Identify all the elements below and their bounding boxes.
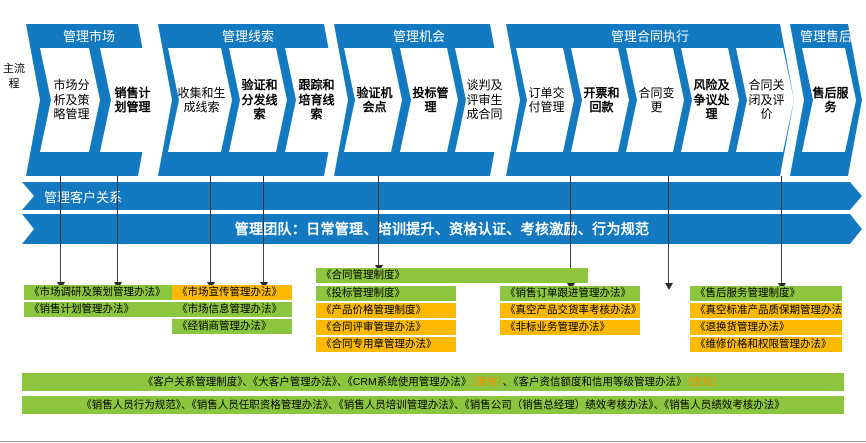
policy-bar-segment-team-docs-1: 《销售人员行为规范》、《销售人员任职资格管理办法》、《销售人员培训管理办法》、《… — [81, 399, 785, 411]
connector-line-4 — [263, 246, 264, 282]
policy-doc-bidding-1[interactable]: 《投标管理制度》 — [316, 286, 456, 301]
policy-bar-segment-crm-docs-1: 《客户关系管理制度》、《大客户管理办法》、《CRM系统使用管理办法》 — [143, 376, 471, 388]
policy-doc-market-research-2[interactable]: 《销售计划管理办法》 — [24, 302, 172, 317]
process-architecture-diagram: 主流程 管理市场市场分析及策略管理销售计划管理管理线索收集和生成线索验证和分发线… — [0, 0, 866, 443]
process-band-title-contract: 管理合同执行 — [506, 28, 794, 46]
policy-bar-team-docs[interactable]: 《销售人员行为规范》、《销售人员任职资格管理办法》、《销售人员培训管理办法》、《… — [22, 396, 844, 414]
policy-bar-segment-crm-docs-4: （优化） — [686, 376, 723, 388]
manage-team-band[interactable]: 管理团队：日常管理、培训提升、资格认证、考核激励、行为规范 — [22, 214, 862, 244]
guide-line-1 — [60, 176, 61, 246]
policy-bar-segment-crm-docs-2: （原有） — [471, 376, 503, 388]
guide-line-7 — [668, 176, 669, 246]
connector-line-1 — [60, 246, 61, 282]
guide-line-2 — [117, 176, 118, 246]
process-band-title-market: 管理市场 — [26, 28, 152, 46]
connector-line-5 — [378, 246, 379, 265]
policy-doc-market-promotion-1[interactable]: 《市场宣传管理办法》 — [172, 285, 292, 300]
policy-doc-contract-system-1[interactable]: 《合同管理制度》 — [316, 268, 588, 283]
guide-line-3 — [210, 176, 211, 246]
policy-doc-market-promotion-3[interactable]: 《经销商管理办法》 — [172, 319, 292, 334]
policy-doc-bidding-2[interactable]: 《产品价格管理制度》 — [316, 303, 456, 318]
policy-doc-sales-order-1[interactable]: 《销售订单跟进管理办法》 — [500, 286, 640, 301]
connector-arrowhead-7 — [665, 283, 673, 290]
crm-band-label: 管理客户关系 — [44, 187, 122, 206]
process-band-title-aftersales: 管理售后 — [790, 28, 862, 46]
guide-line-4 — [263, 176, 264, 246]
process-band-title-opportunity: 管理机会 — [334, 28, 504, 46]
policy-doc-after-sales-docs-2[interactable]: 《真空标准产品质保期管理办法》 — [690, 303, 842, 318]
policy-doc-bidding-4[interactable]: 《合同专用章管理办法》 — [316, 337, 456, 352]
policy-doc-after-sales-docs-3[interactable]: 《退换货管理办法》 — [690, 320, 842, 335]
guide-line-5 — [378, 176, 379, 246]
policy-bar-segment-crm-docs-3: 、《客户资信额度和信用等级管理办法》 — [503, 376, 687, 388]
policy-bar-crm-docs[interactable]: 《客户关系管理制度》、《大客户管理办法》、《CRM系统使用管理办法》（原有）、《… — [22, 373, 844, 391]
connector-line-2 — [117, 246, 118, 282]
connector-line-7 — [668, 246, 669, 283]
manage-customer-relationship-band[interactable]: 管理客户关系 — [22, 182, 862, 210]
policy-doc-after-sales-docs-4[interactable]: 《维修价格和权限管理办法》 — [690, 337, 842, 352]
bottom-divider — [0, 441, 866, 442]
guide-line-8 — [781, 176, 782, 246]
policy-doc-market-promotion-2[interactable]: 《市场信息管理办法》 — [172, 302, 292, 317]
connector-line-8 — [781, 246, 782, 283]
policy-doc-bidding-3[interactable]: 《合同评审管理办法》 — [316, 320, 456, 335]
policy-doc-sales-order-3[interactable]: 《非标业务管理办法》 — [500, 320, 640, 335]
guide-line-6 — [570, 176, 571, 246]
process-band-title-leads: 管理线索 — [158, 28, 338, 46]
connector-line-3 — [210, 246, 211, 282]
policy-doc-market-research-1[interactable]: 《市场调研及策划管理办法》 — [24, 285, 172, 300]
main-process-axis-label: 主流程 — [2, 62, 26, 92]
policy-doc-after-sales-docs-1[interactable]: 《售后服务管理制度》 — [690, 286, 842, 301]
policy-doc-sales-order-2[interactable]: 《真空产品交货率考核办法》 — [500, 303, 640, 318]
team-band-label: 管理团队：日常管理、培训提升、资格认证、考核激励、行为规范 — [235, 219, 650, 239]
